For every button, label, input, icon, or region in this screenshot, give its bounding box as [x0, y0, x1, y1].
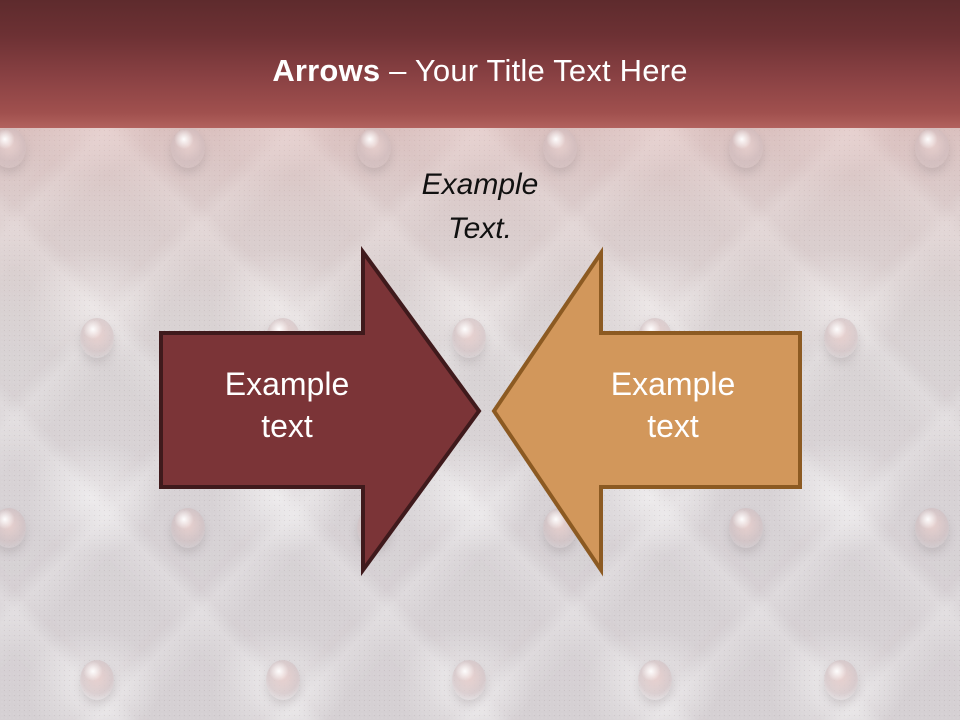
slide-canvas: Arrows – Your Title Text Here Example Te… [0, 0, 960, 720]
arrows-diagram [0, 0, 960, 720]
left-arrow-label-line-1: Example [187, 363, 387, 405]
left-arrow-label-line-2: text [187, 405, 387, 447]
right-arrow-label: Example text [573, 363, 773, 447]
right-arrow-label-line-1: Example [573, 363, 773, 405]
left-arrow-label: Example text [187, 363, 387, 447]
right-arrow-label-line-2: text [573, 405, 773, 447]
